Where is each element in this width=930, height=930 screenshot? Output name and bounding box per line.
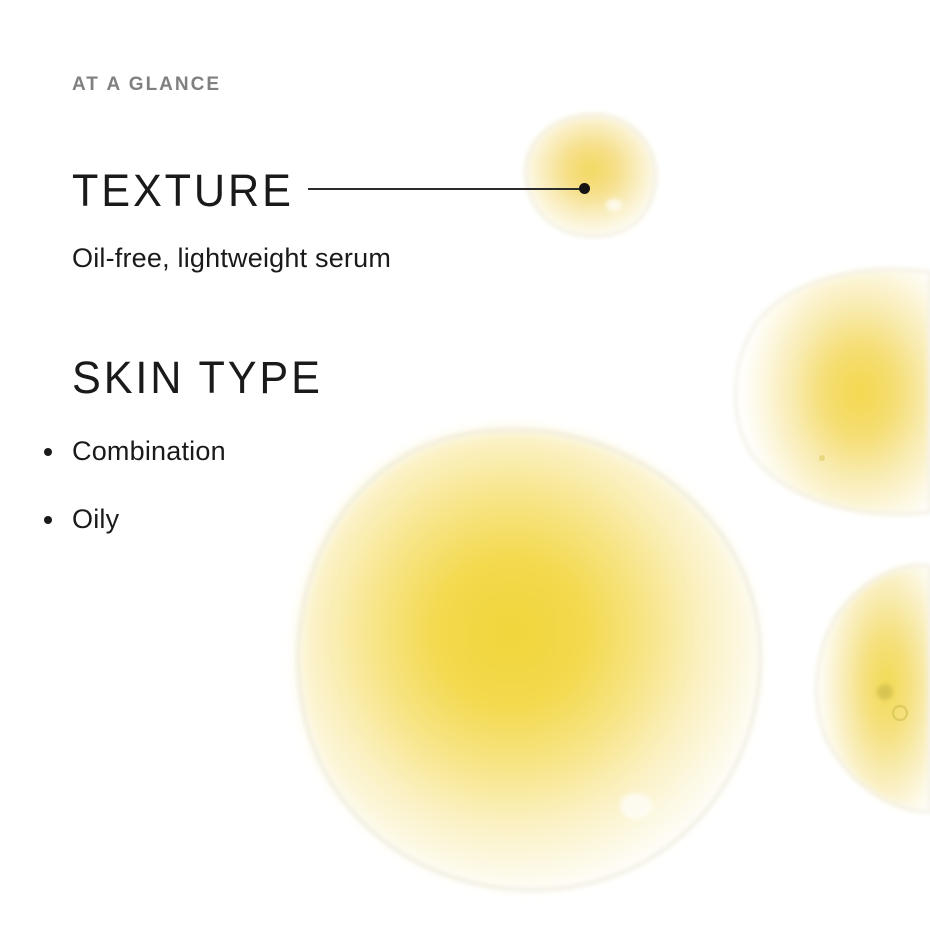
skin-type-option-label: Oily [72,506,119,533]
content-layer: AT A GLANCE TEXTURE Oil-free, lightweigh… [0,0,930,930]
section-eyebrow: AT A GLANCE [72,74,221,96]
skin-type-option-label: Combination [72,438,226,465]
texture-description: Oil-free, lightweight serum [72,245,391,272]
list-item: Combination [44,438,226,465]
bullet-dot-icon [44,448,52,456]
texture-leader-line [308,188,585,190]
heading-texture: TEXTURE [72,168,294,213]
at-a-glance-panel: AT A GLANCE TEXTURE Oil-free, lightweigh… [0,0,930,930]
list-item: Oily [44,506,119,533]
heading-skin-type: SKIN TYPE [72,355,323,400]
texture-leader-endpoint-dot [579,183,590,194]
bullet-dot-icon [44,516,52,524]
